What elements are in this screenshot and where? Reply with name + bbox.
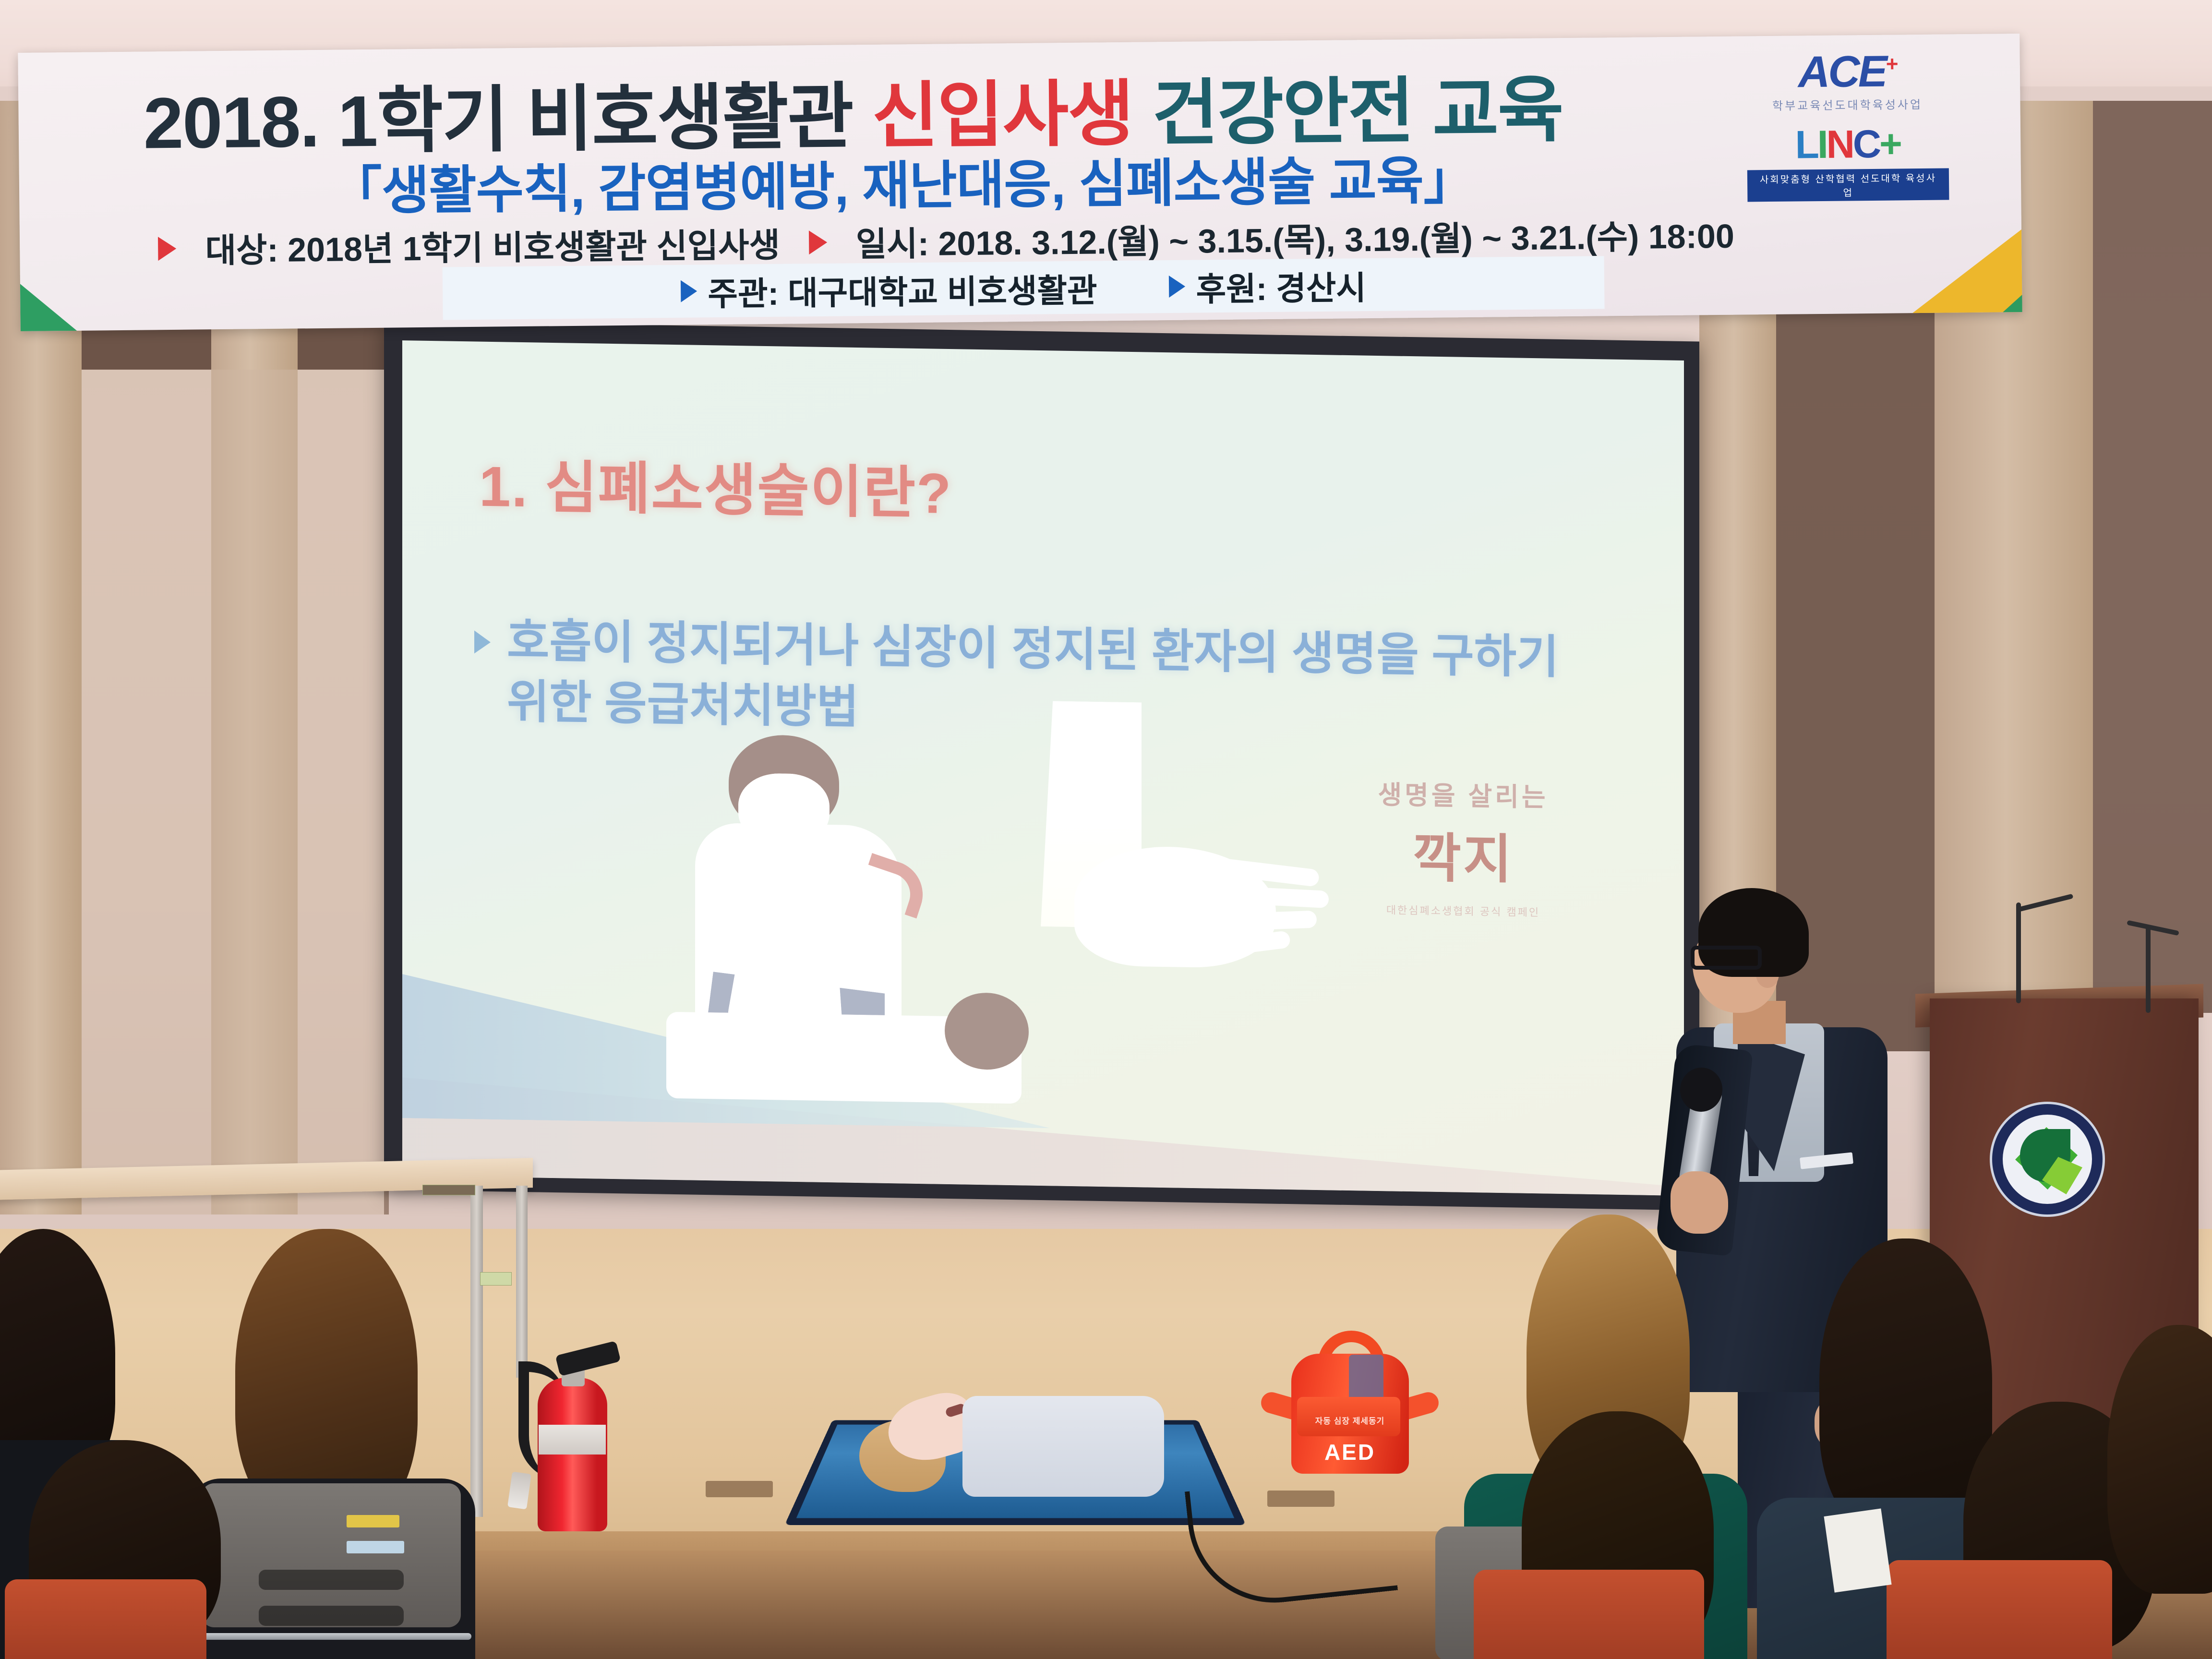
ace-logo: ACE+ xyxy=(1746,48,1948,95)
extinguisher-label xyxy=(539,1425,606,1455)
linc-letter-c: C xyxy=(1852,122,1879,167)
aed-label: AED xyxy=(1307,1439,1393,1465)
banner-organizer-text: 주관: 대구대학교 비호생활관 xyxy=(708,264,1097,315)
eyeglasses-icon xyxy=(1691,946,1762,970)
linc-letter-n: N xyxy=(1826,122,1853,167)
banner-sponsor: 후원: 경산시 xyxy=(1169,261,1366,311)
wall-panel-light-a xyxy=(82,370,389,1214)
projected-slide: 1. 심폐소생술이란? 호흡이 정지되거나 심장이 정지된 환자의 생명을 구하… xyxy=(402,340,1684,1196)
audience-member xyxy=(2098,1229,2212,1659)
slide-bullet: 호흡이 정지되거나 심장이 정지된 환자의 생명을 구하기 위한 응급처치방법 xyxy=(474,610,1578,749)
campaign-logo-main: 깍지 xyxy=(1314,813,1612,895)
table-edge-label xyxy=(422,1185,475,1195)
chair[interactable] xyxy=(1887,1560,2112,1659)
cpr-illustration xyxy=(657,719,1022,1032)
slide-heading: 1. 심폐소생술이란? xyxy=(479,440,952,529)
aed-korean-label: 자동 심장 제세동기 xyxy=(1307,1414,1393,1426)
lecture-hall-photo: 1. 심폐소생술이란? 호흡이 정지되거나 심장이 정지된 환자의 생명을 구하… xyxy=(0,0,2212,1659)
linc-letter-l: L xyxy=(1795,123,1817,167)
banner-marker-icon-1 xyxy=(158,236,176,260)
chair[interactable] xyxy=(1474,1570,1704,1659)
linc-letter-plus: + xyxy=(1879,122,1901,166)
ace-logo-subtitle: 학부교육선도대학육성사업 xyxy=(1746,95,1948,113)
linc-logo-subtitle: 사회맞춤형 산학협력 선도대학 육성사업 xyxy=(1747,168,1949,202)
cpr-manikin xyxy=(859,1392,1166,1503)
ace-logo-text: ACE xyxy=(1798,47,1886,97)
university-emblem xyxy=(1992,1104,2103,1214)
banner-sponsor-strip: 주관: 대구대학교 비호생활관 후원: 경산시 xyxy=(443,256,1605,320)
manikin-torso xyxy=(962,1396,1164,1497)
linc-logo: LINC+ xyxy=(1747,124,1949,165)
event-banner: 2018. 1학기 비호생활관 신입사생 건강안전 교육 「생활수칙, 감염병예… xyxy=(18,34,2022,331)
projection-screen-frame: 1. 심폐소생술이란? 호흡이 정지되거나 심장이 정지된 환자의 생명을 구하… xyxy=(384,321,1699,1210)
podium-mic-stem-2 xyxy=(2146,926,2151,1013)
aed-bag: 자동 심장 제세동기 AED xyxy=(1267,1325,1431,1483)
wall-panel-dark-far-right xyxy=(2093,101,2212,1013)
chair-sticker-yellow xyxy=(347,1515,399,1527)
campaign-logo-sub: 생명을 살리는 xyxy=(1314,772,1612,815)
extinguisher-body xyxy=(538,1378,607,1531)
extinguisher-handle xyxy=(555,1341,621,1376)
handout-paper xyxy=(1824,1508,1891,1592)
stage-vent-1 xyxy=(706,1481,773,1497)
chair[interactable] xyxy=(5,1579,206,1659)
banner-marker-icon-4 xyxy=(1169,276,1185,298)
fire-extinguisher xyxy=(528,1344,614,1531)
campaign-logo: 생명을 살리는 깍지 대한심폐소생협회 공식 캠페인 xyxy=(1314,772,1612,921)
banner-marker-icon-3 xyxy=(681,280,697,302)
chair-sticker-blue xyxy=(347,1541,404,1553)
bullet-triangle-icon xyxy=(474,630,491,654)
banner-info-1: 대상: 2018년 1학기 비호생활관 신입사생 xyxy=(205,218,780,272)
banner-sponsor-text: 후원: 경산시 xyxy=(1196,261,1366,310)
banner-logos: ACE+ 학부교육선도대학육성사업 LINC+ 사회맞춤형 산학협력 선도대학 … xyxy=(1746,48,1949,202)
banner-marker-icon-2 xyxy=(809,230,827,254)
podium-mic-stem-1 xyxy=(2016,902,2021,1003)
ace-logo-plus: + xyxy=(1886,52,1896,76)
wall-safety-sticker xyxy=(480,1272,512,1286)
linc-letter-i: I xyxy=(1817,123,1827,167)
side-table-leg-back xyxy=(516,1186,528,1378)
banner-organizer: 주관: 대구대학교 비호생활관 xyxy=(681,264,1097,315)
